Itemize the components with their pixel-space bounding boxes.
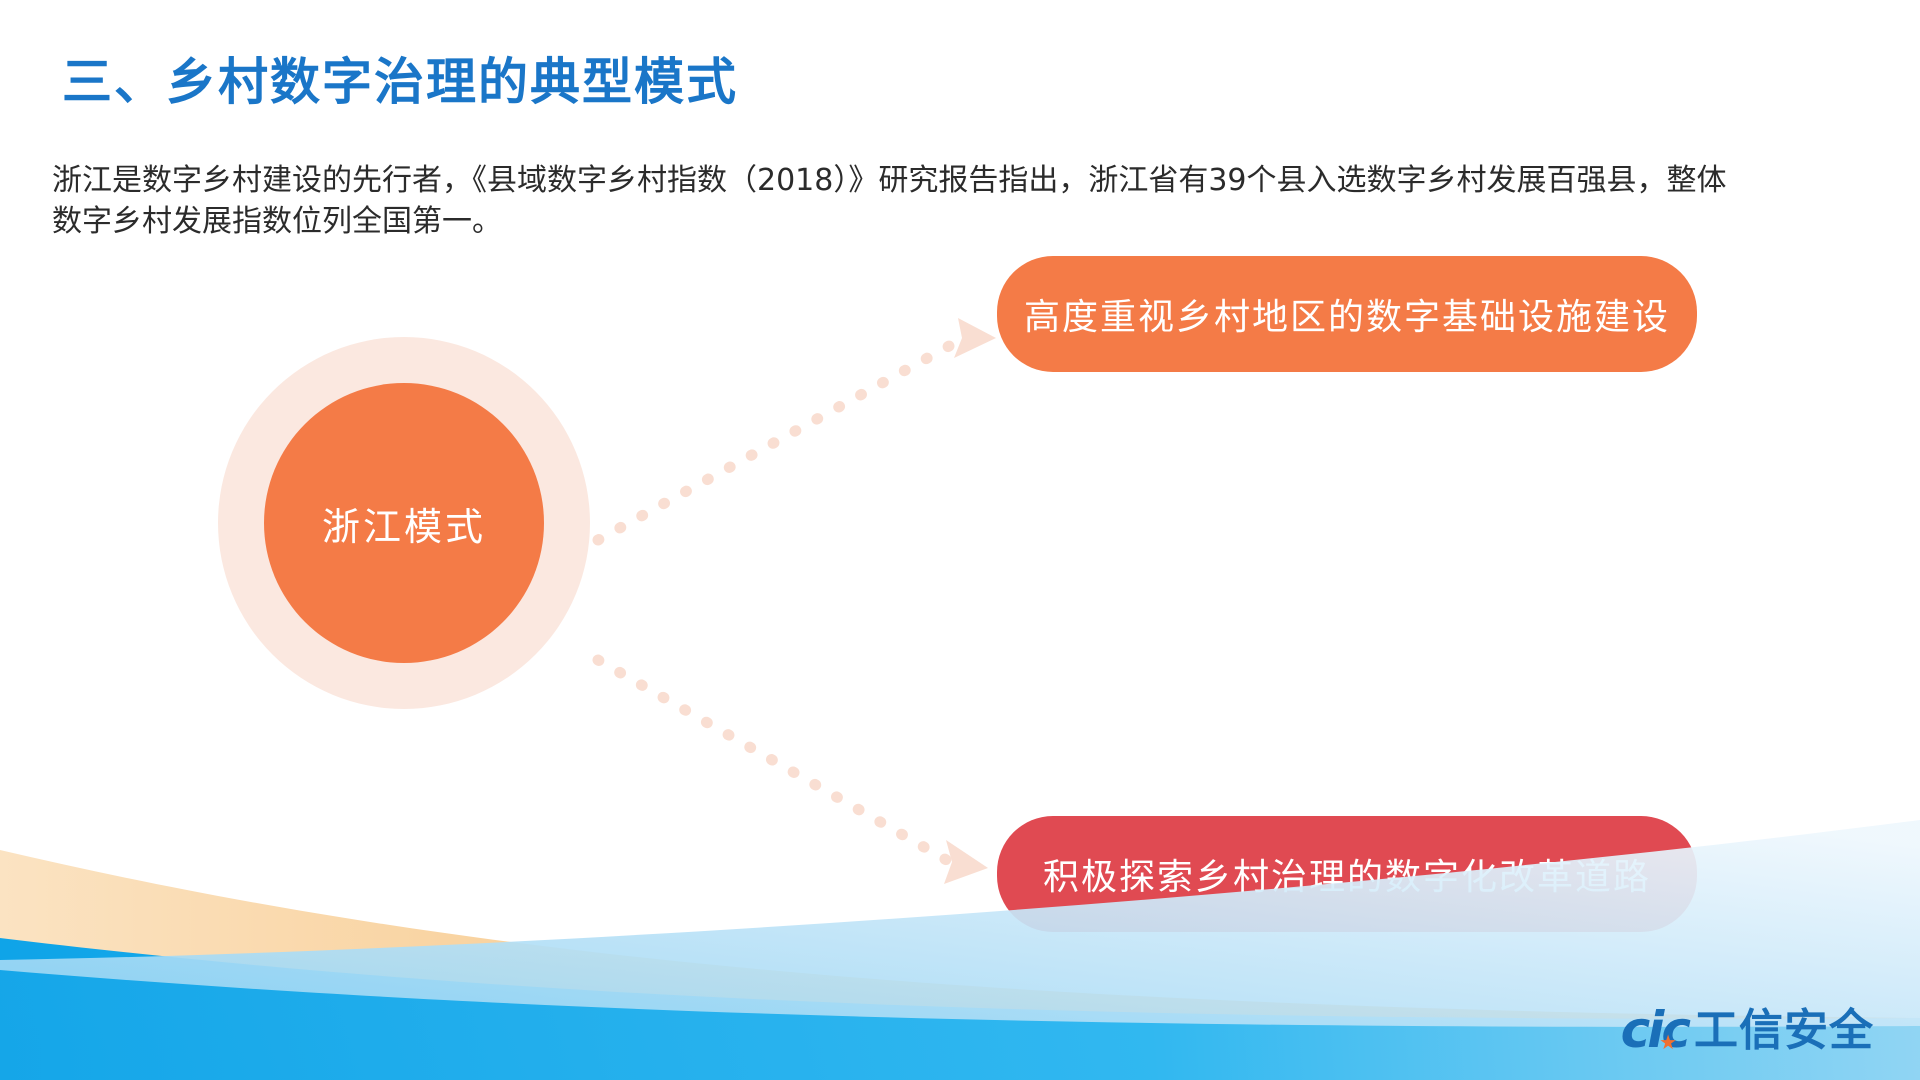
center-node-core: 浙江模式 bbox=[264, 383, 544, 663]
slide-canvas: 三、乡村数字治理的典型模式 浙江是数字乡村建设的先行者，《县域数字乡村指数（20… bbox=[0, 0, 1920, 1080]
logo-company-name: 工信安全 bbox=[1694, 1006, 1874, 1056]
body-paragraph-line-1: 浙江是数字乡村建设的先行者，《县域数字乡村指数（2018）》研究报告指出，浙江省… bbox=[52, 160, 1882, 201]
center-node-label: 浙江模式 bbox=[322, 496, 486, 551]
star-icon: ★ bbox=[1659, 1032, 1674, 1052]
body-paragraph: 浙江是数字乡村建设的先行者，《县域数字乡村指数（2018）》研究报告指出，浙江省… bbox=[52, 160, 1882, 242]
center-node[interactable]: 浙江模式 bbox=[218, 337, 590, 709]
logo-cic-text: cic bbox=[1621, 1001, 1688, 1059]
logo-cic-mark: cic ★ bbox=[1621, 1004, 1688, 1056]
callout-box-infrastructure-label: 高度重视乡村地区的数字基础设施建设 bbox=[1024, 288, 1670, 340]
connector-dots-to-top bbox=[598, 318, 996, 540]
callout-box-infrastructure[interactable]: 高度重视乡村地区的数字基础设施建设 bbox=[997, 256, 1697, 372]
page-title: 三、乡村数字治理的典型模式 bbox=[62, 42, 738, 114]
body-paragraph-line-2: 数字乡村发展指数位列全国第一。 bbox=[52, 201, 1882, 242]
brand-logo: cic ★ 工信安全 bbox=[1621, 1000, 1874, 1056]
